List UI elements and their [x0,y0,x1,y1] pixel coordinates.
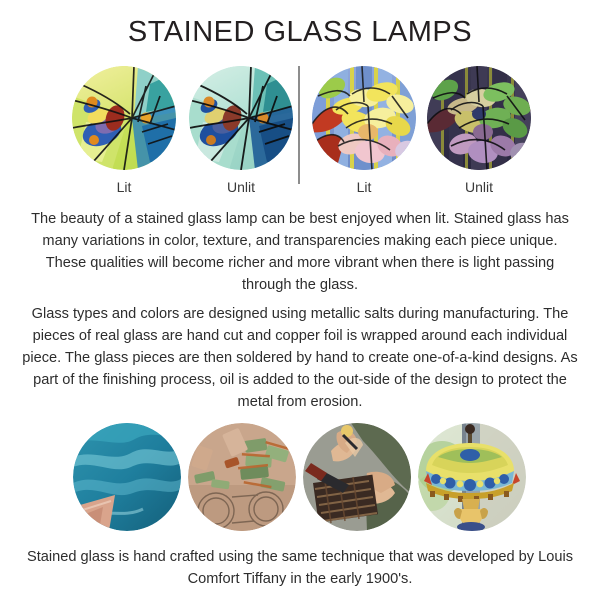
comparison-cell-pair2-lit: Lit [303,66,425,196]
comparison-label-pair1-unlit: Unlit [180,178,302,196]
comparison-label-pair1-lit: Lit [63,178,185,196]
finished-tiffany-lamp-image [418,423,526,531]
stained-glass-geometric-unlit-image [189,66,293,170]
process-paragraph: Glass types and colors are designed usin… [22,303,578,413]
cut-glass-pieces-on-pattern-image [188,423,296,531]
comparison-cell-pair2-unlit: Unlit [418,66,540,196]
heritage-paragraph: Stained glass is hand crafted using the … [22,546,578,590]
lit-unlit-comparison: Lit [0,66,600,201]
stained-glass-floral-lit-image [312,66,416,170]
blue-glass-sheet-image [73,423,181,531]
process-image-strip [0,423,600,533]
hands-soldering-glass-image [303,423,411,531]
comparison-label-pair2-unlit: Unlit [418,178,540,196]
process-step-3 [303,423,411,531]
process-step-1 [73,423,181,531]
process-step-4 [418,423,526,531]
process-step-2 [188,423,296,531]
stained-glass-geometric-lit-image [72,66,176,170]
page-title: STAINED GLASS LAMPS [0,14,600,50]
comparison-cell-pair1-lit: Lit [63,66,185,196]
comparison-label-pair2-lit: Lit [303,178,425,196]
comparison-cell-pair1-unlit: Unlit [180,66,302,196]
infographic-page: STAINED GLASS LAMPS [0,0,600,600]
stained-glass-floral-unlit-image [427,66,531,170]
intro-paragraph: The beauty of a stained glass lamp can b… [22,208,578,296]
